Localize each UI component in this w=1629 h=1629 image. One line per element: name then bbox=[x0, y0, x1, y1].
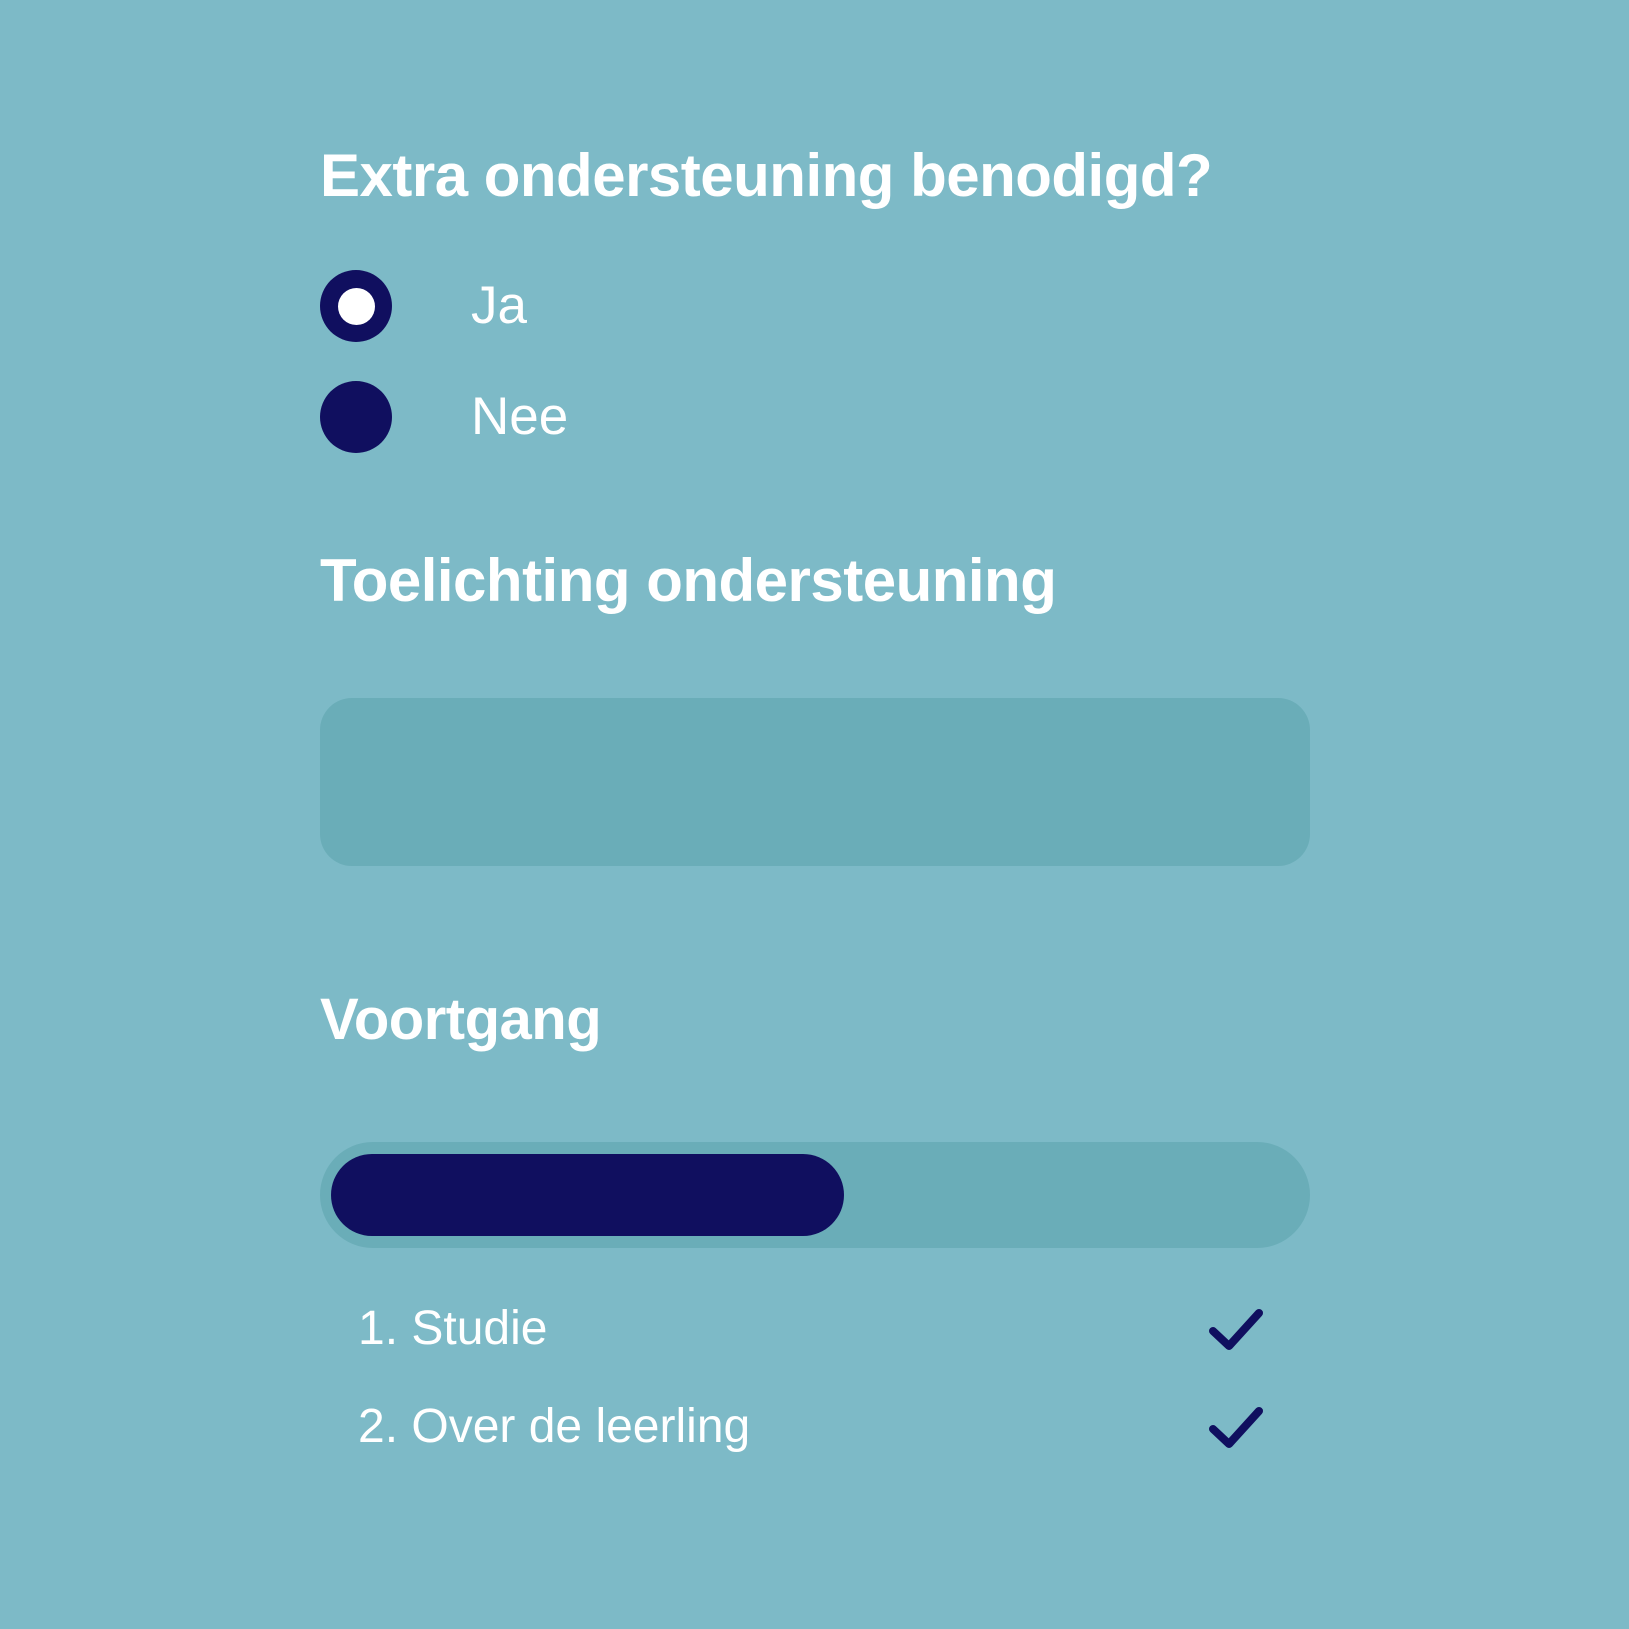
radio-ja-label: Ja bbox=[471, 276, 527, 336]
step-item-studie[interactable]: 1. Studie bbox=[358, 1291, 1263, 1367]
progress-heading: Voortgang bbox=[320, 985, 601, 1055]
form-page: Extra ondersteuning benodigd? Ja Nee Toe… bbox=[0, 0, 1629, 1629]
progress-bar-track bbox=[320, 1142, 1310, 1248]
check-icon bbox=[1209, 1406, 1263, 1448]
support-note-textarea[interactable] bbox=[320, 698, 1310, 866]
progress-step-list: 1. Studie 2. Over de leerling bbox=[358, 1291, 1263, 1487]
radio-option-nee[interactable]: Nee bbox=[320, 381, 1020, 453]
radio-nee-icon[interactable] bbox=[320, 381, 392, 453]
support-radio-group: Ja Nee bbox=[320, 270, 1020, 492]
step-item-over-de-leerling[interactable]: 2. Over de leerling bbox=[358, 1389, 1263, 1465]
step-item-over-de-leerling-label: 2. Over de leerling bbox=[358, 1398, 1209, 1456]
radio-ja-selected-dot bbox=[338, 288, 375, 325]
radio-option-ja[interactable]: Ja bbox=[320, 270, 1020, 342]
progress-bar-fill bbox=[331, 1154, 844, 1236]
radio-ja-icon[interactable] bbox=[320, 270, 392, 342]
step-item-studie-label: 1. Studie bbox=[358, 1300, 1209, 1358]
check-icon bbox=[1209, 1308, 1263, 1350]
support-note-heading: Toelichting ondersteuning bbox=[320, 546, 1056, 616]
support-question-heading: Extra ondersteuning benodigd? bbox=[320, 141, 1212, 211]
radio-nee-label: Nee bbox=[471, 387, 568, 447]
